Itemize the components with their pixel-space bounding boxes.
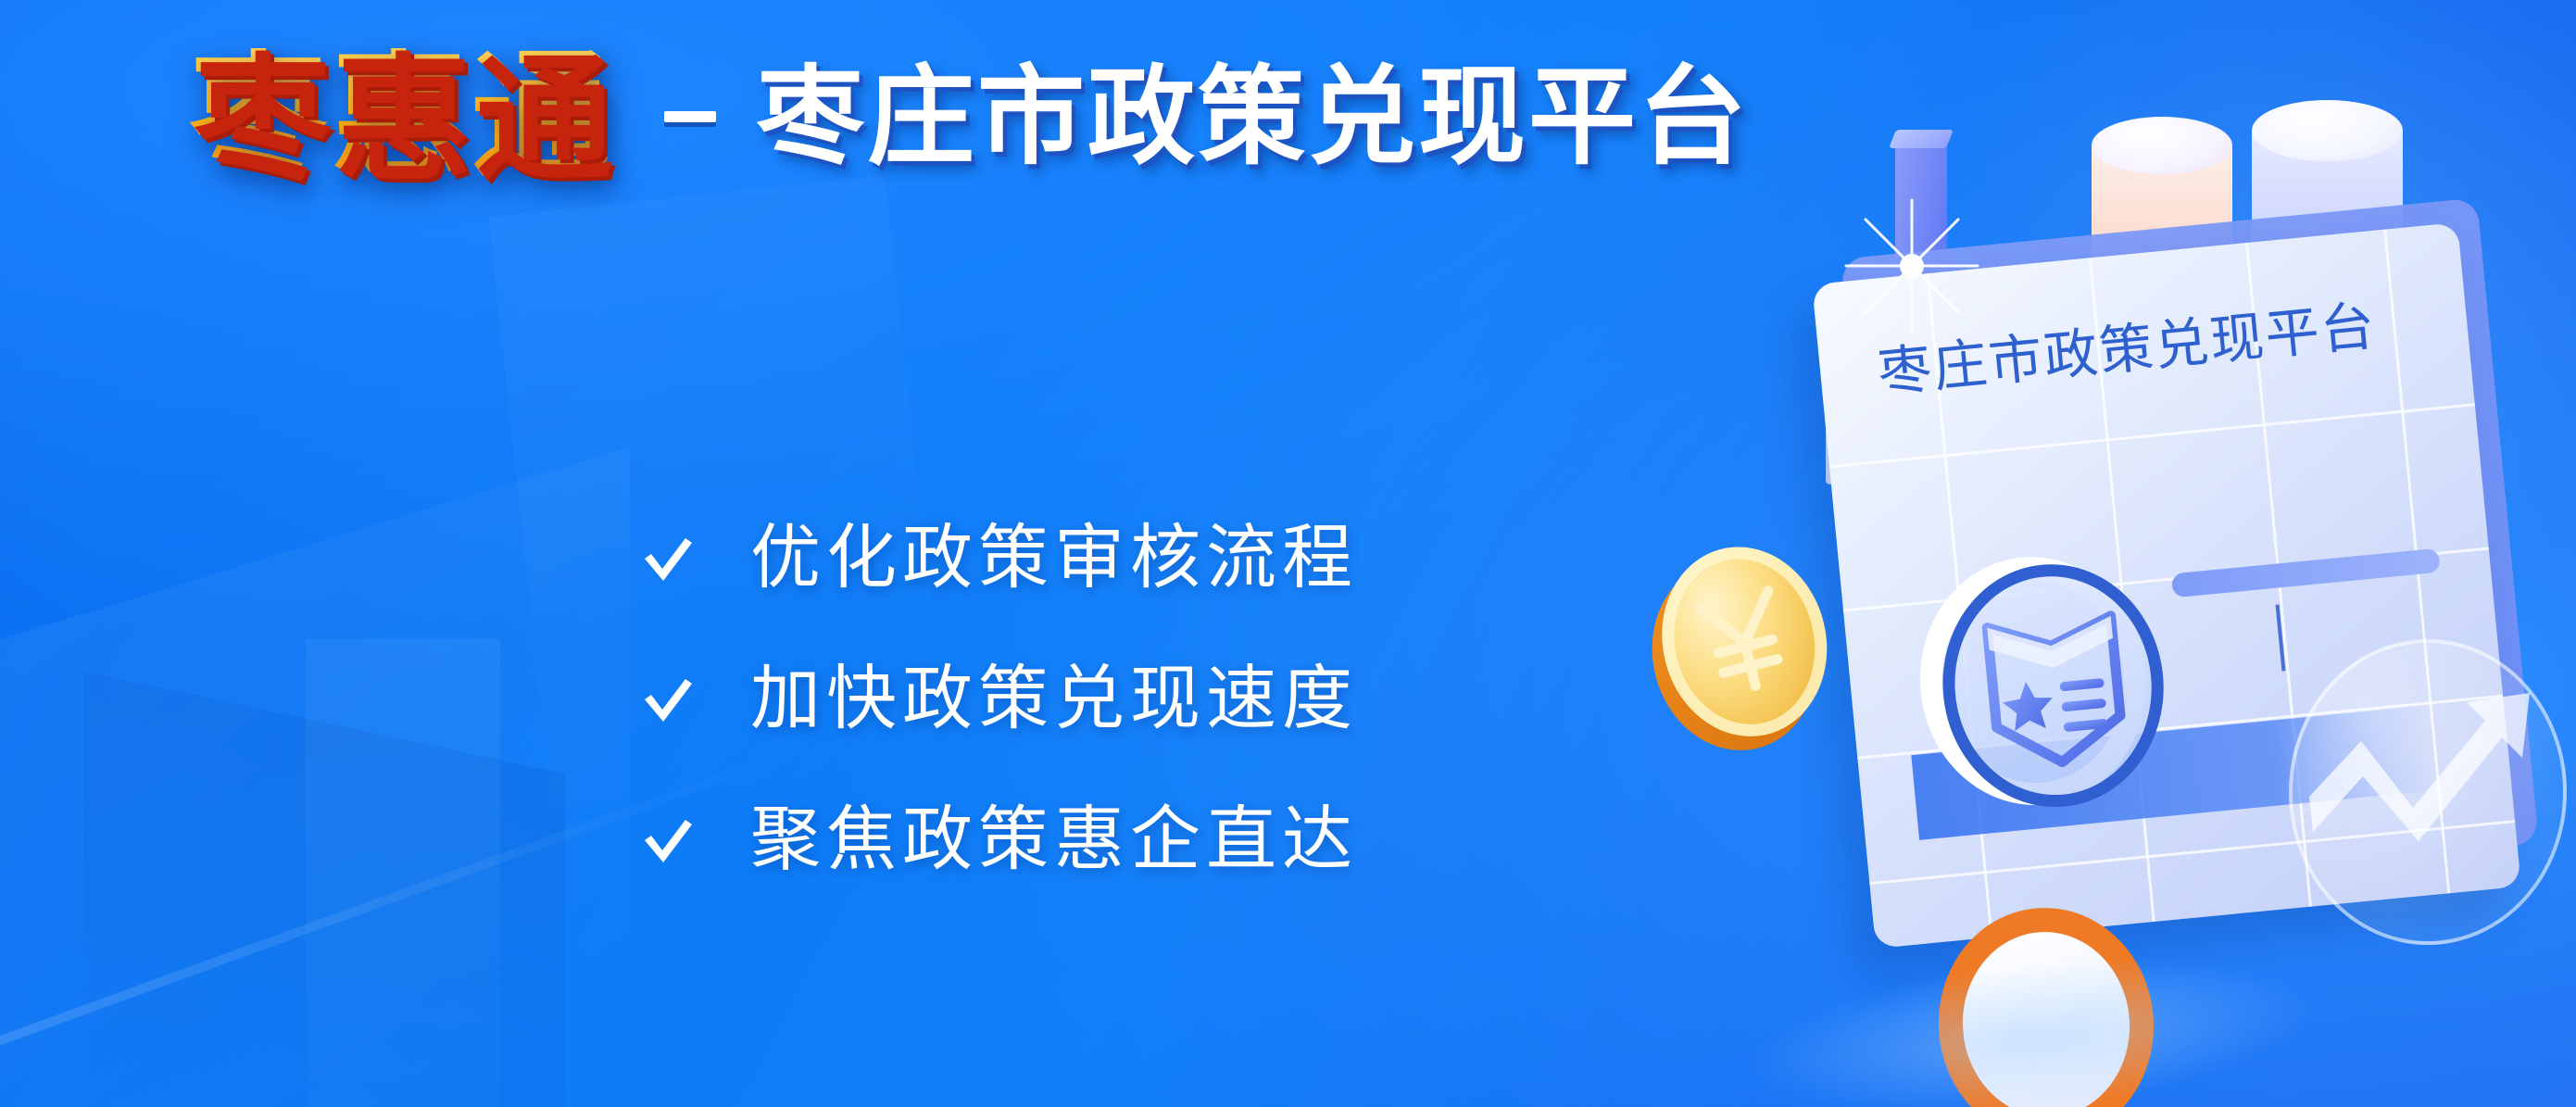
background-bar-a: [306, 639, 500, 1107]
card-grid-lines: [1812, 222, 2521, 949]
check-icon: [639, 530, 697, 587]
background-glow: [1891, 0, 2576, 667]
list-item: 加快政策兑现速度: [639, 664, 1358, 735]
card-progress-pill: [2171, 548, 2441, 598]
card-bottom-stripe: [1911, 706, 2435, 840]
feature-list: 优化政策审核流程 加快政策兑现速度 聚焦政策惠企直达: [639, 523, 1358, 875]
yuan-symbol-icon: [1680, 574, 1807, 706]
badge-inner-ring: [1932, 554, 2175, 817]
factory-chimney-cap: [1889, 130, 1954, 148]
feature-label: 聚焦政策惠企直达: [750, 805, 1358, 875]
blue-cylinder-bar: [2252, 132, 2403, 595]
policy-platform-banner: 枣惠通 枣庄市政策兑现平台 优化政策审核流程 加快政策兑现速度 聚焦政策惠企直达: [0, 0, 2576, 1107]
factory-chimney: [1895, 135, 1947, 325]
check-icon: [639, 811, 697, 869]
banner-illustration: 枣庄市政策兑现平台: [1687, 0, 2576, 1107]
orange-cylinder-bar: [2092, 145, 2232, 590]
card-tick-mark: [2276, 604, 2286, 671]
coin-edge: [1632, 543, 1837, 767]
brand-title: 枣惠通: [190, 48, 612, 185]
blue-cylinder-top: [2252, 100, 2403, 161]
banner-subtitle: 枣庄市政策兑现平台: [757, 63, 1749, 170]
shield-star-icon: [1979, 606, 2131, 774]
coin-face: [1642, 529, 1847, 753]
check-icon: [639, 671, 697, 728]
orange-cylinder-top: [2092, 117, 2232, 174]
yuan-coin: [1629, 523, 1874, 778]
trend-circle-outline: [2289, 639, 2567, 945]
background-wedge-b: [83, 672, 565, 1107]
platform-card: 枣庄市政策兑现平台: [1812, 222, 2521, 949]
card-title: 枣庄市政策兑现平台: [1876, 299, 2379, 400]
orange-ring-icon: [1929, 899, 2163, 1107]
list-item: 聚焦政策惠企直达: [639, 805, 1358, 875]
platform-card-back: [1841, 198, 2539, 905]
factory-block-top: [1826, 265, 2094, 486]
sparkle-icon: [1842, 196, 1981, 335]
rising-arrow-icon: [2304, 687, 2554, 891]
list-item: 优化政策审核流程: [639, 523, 1358, 594]
feature-label: 优化政策审核流程: [750, 523, 1358, 594]
title-separator-dash: [664, 111, 716, 122]
factory-block-face: [1826, 359, 2094, 562]
background-wedge-a: [0, 447, 630, 1107]
floor-glow: [1736, 934, 2322, 1107]
certification-badge: [1909, 545, 2182, 836]
badge-outer-ring: [1909, 547, 2158, 815]
growth-indicator: [2289, 639, 2567, 945]
feature-label: 加快政策兑现速度: [750, 664, 1358, 735]
banner-headline: 枣惠通 枣庄市政策兑现平台: [190, 48, 1749, 185]
